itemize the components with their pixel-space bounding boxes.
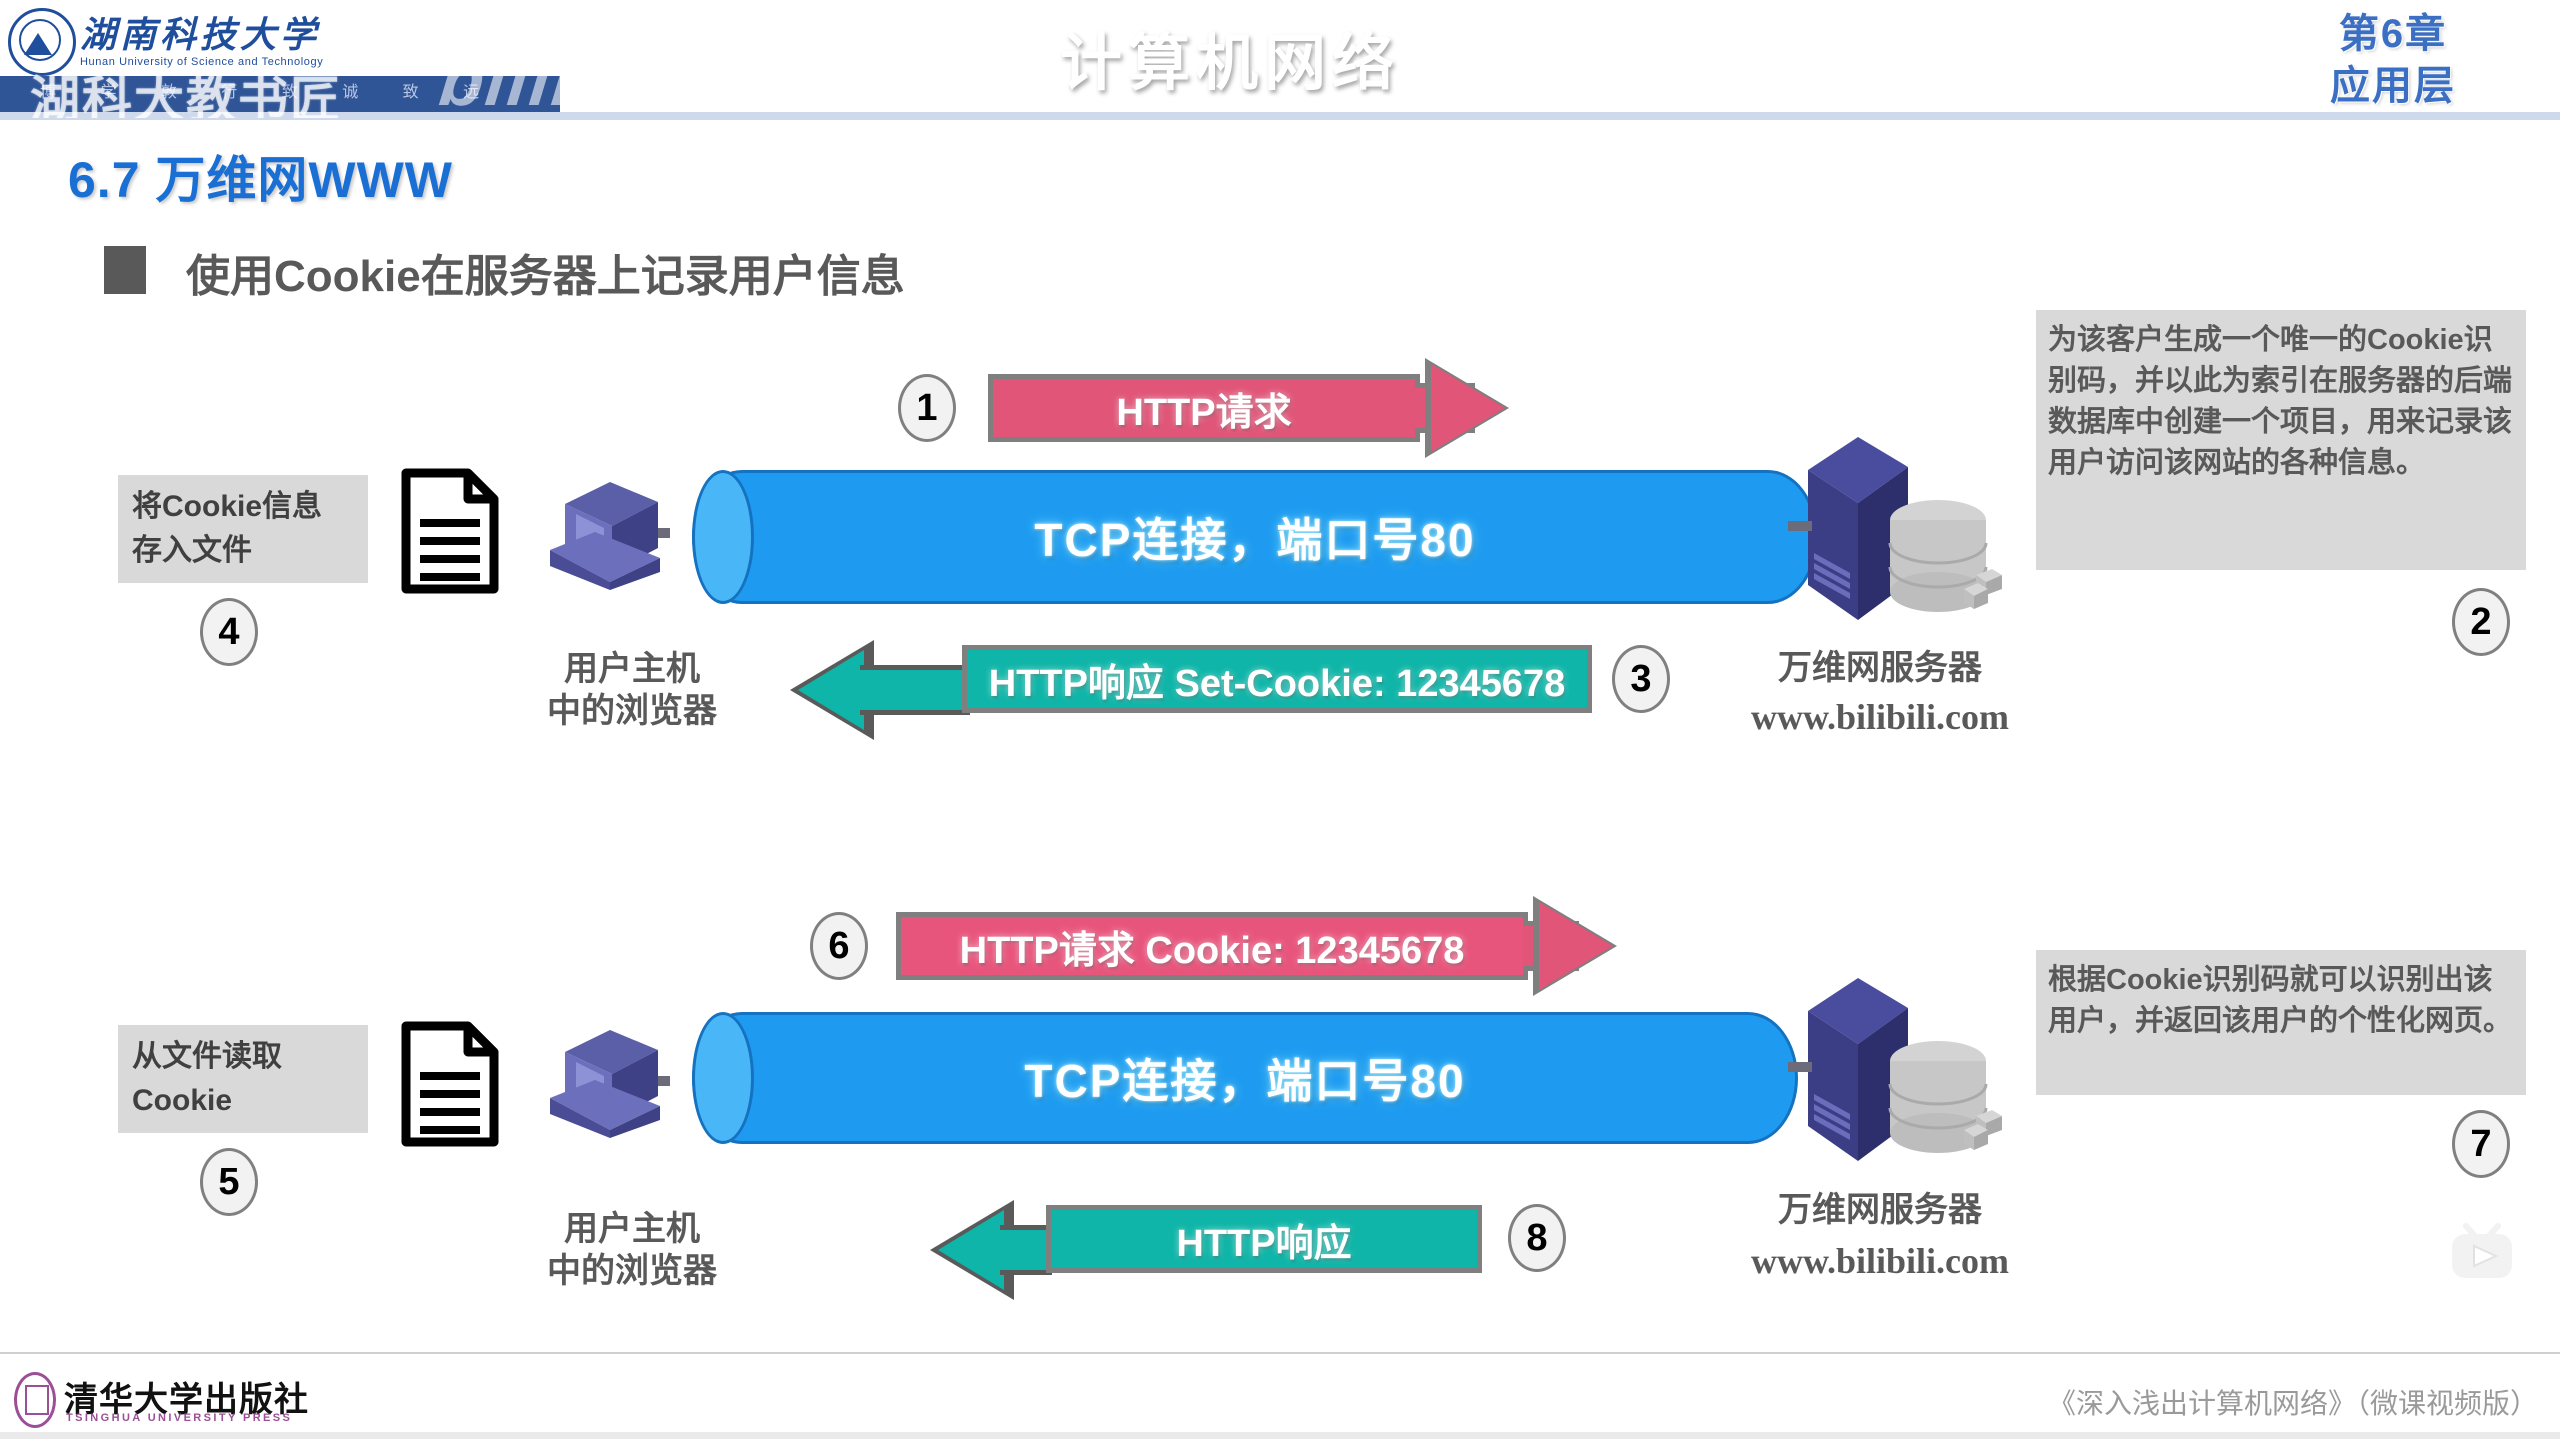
bottom-response-label: HTTP响应: [1176, 1212, 1351, 1267]
bottom-request-label: HTTP请求 Cookie: 12345678: [960, 919, 1465, 974]
top-request-arrow-head-icon: [1431, 364, 1505, 452]
bottom-request-arrow-head-icon: [1539, 902, 1613, 990]
chapter-name: 应用层: [2278, 60, 2508, 112]
user-pc-icon-bottom: [540, 1020, 670, 1140]
bottom-host-label-line2: 中的浏览器: [512, 1250, 752, 1292]
document-icon-bottom: [400, 1020, 500, 1148]
bottom-left-note-step: 5: [200, 1148, 258, 1216]
document-icon: [400, 467, 500, 595]
bullet-square-icon: [104, 246, 146, 294]
slide-header: 湖南科技大学 Hunan University of Science and T…: [0, 0, 2560, 118]
top-host-label-line1: 用户主机: [512, 648, 752, 690]
bottom-right-note-step: 7: [2452, 1110, 2510, 1178]
bottom-response-arrow-stem: [1000, 1225, 1052, 1275]
tcp-pipe-top: TCP连接，端口号80: [692, 470, 1818, 604]
top-left-note-line1: 将Cookie信息: [132, 485, 354, 529]
top-host-label-line2: 中的浏览器: [512, 690, 752, 732]
footer-divider: [0, 1352, 2560, 1354]
top-request-banner: HTTP请求: [988, 374, 1420, 442]
tcp-pipe-bottom-label: TCP连接，端口号80: [695, 1045, 1795, 1111]
top-server-url: www.bilibili.com: [1690, 696, 2070, 738]
top-response-arrow-stem: [860, 665, 970, 715]
page-title: 计算机网络: [1060, 12, 1400, 102]
top-response-label: HTTP响应 Set-Cookie: 12345678: [989, 652, 1566, 707]
bottom-host-label-line1: 用户主机: [512, 1208, 752, 1250]
publisher-name-en: TSINGHUA UNIVERSITY PRESS: [66, 1412, 292, 1424]
university-name-cn: 湖南科技大学: [80, 6, 320, 58]
bottom-response-arrow-head-icon: [938, 1210, 1004, 1290]
chapter-badge: 第6章 应用层: [2278, 8, 2508, 112]
bottom-request-step: 6: [810, 912, 868, 980]
channel-watermark: 湖科大教书匠: [30, 60, 342, 118]
top-host-label: 用户主机 中的浏览器: [512, 648, 752, 732]
bottom-right-note: 根据Cookie识别码就可以识别出该用户，并返回该用户的个性化网页。: [2036, 950, 2526, 1095]
book-reference: 《深入浅出计算机网络》（微课视频版）: [2048, 1382, 2538, 1422]
tcp-pipe-top-label: TCP连接，端口号80: [695, 504, 1815, 570]
top-request-step: 1: [898, 374, 956, 442]
bottom-host-label: 用户主机 中的浏览器: [512, 1208, 752, 1292]
top-right-note-step: 2: [2452, 588, 2510, 656]
bottom-server-label: 万维网服务器: [1690, 1188, 2070, 1232]
bilibili-tv-watermark-icon: [2444, 1222, 2520, 1284]
section-title: 6.7 万维网WWW: [68, 140, 453, 212]
top-response-step: 3: [1612, 645, 1670, 713]
bottom-response-banner: HTTP响应: [1046, 1205, 1482, 1273]
bottom-left-note-line1: 从文件读取: [132, 1035, 354, 1079]
bottom-server-url: www.bilibili.com: [1690, 1240, 2070, 1282]
chapter-number: 第6章: [2278, 8, 2508, 60]
tsinghua-press-logo-icon: [14, 1372, 56, 1428]
bilibili-watermark: bilibili: [436, 40, 669, 118]
top-left-note: 将Cookie信息 存入文件: [118, 475, 368, 583]
top-left-note-line2: 存入文件: [132, 529, 354, 573]
bottom-request-banner: HTTP请求 Cookie: 12345678: [896, 912, 1528, 980]
user-pc-icon: [540, 472, 670, 592]
bullet-heading: 使用Cookie在服务器上记录用户信息: [186, 240, 905, 304]
web-server-icon-bottom: [1788, 966, 2008, 1181]
bottom-left-note: 从文件读取 Cookie: [118, 1025, 368, 1133]
web-server-icon: [1788, 425, 2008, 640]
bottom-left-note-line2: Cookie: [132, 1079, 354, 1123]
bottom-response-step: 8: [1508, 1204, 1566, 1272]
taskbar-strip: [0, 1432, 2560, 1439]
tcp-pipe-bottom: TCP连接，端口号80: [692, 1012, 1798, 1144]
top-left-note-step: 4: [200, 598, 258, 666]
top-server-label: 万维网服务器: [1690, 646, 2070, 690]
top-right-note: 为该客户生成一个唯一的Cookie识别码，并以此为索引在服务器的后端数据库中创建…: [2036, 310, 2526, 570]
top-request-label: HTTP请求: [1116, 381, 1291, 436]
top-response-arrow-head-icon: [798, 650, 864, 730]
header-underline: [0, 112, 2560, 120]
top-response-banner: HTTP响应 Set-Cookie: 12345678: [962, 645, 1592, 713]
